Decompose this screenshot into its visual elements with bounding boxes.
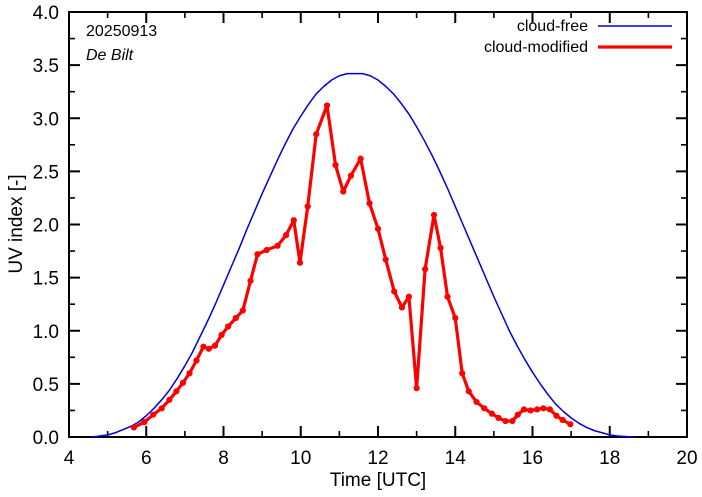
data-point	[283, 232, 289, 238]
data-point	[166, 397, 172, 403]
data-point	[495, 415, 501, 421]
data-point	[186, 370, 192, 376]
chart-svg: 4681012141618200.00.51.01.52.02.53.03.54…	[0, 0, 702, 497]
y-tick-label: 4.0	[33, 3, 59, 24]
data-point	[141, 419, 147, 425]
data-point	[502, 418, 508, 424]
data-point	[466, 388, 472, 394]
legend-label: cloud-free	[517, 18, 588, 35]
data-point	[521, 406, 527, 412]
data-point	[332, 162, 338, 168]
x-tick-label: 14	[445, 448, 467, 469]
data-point	[206, 346, 212, 352]
data-point	[180, 380, 186, 386]
data-point	[534, 406, 540, 412]
data-point	[297, 260, 303, 266]
data-point	[481, 405, 487, 411]
y-axis-title: UV index [-]	[6, 174, 27, 273]
x-tick-label: 4	[64, 448, 75, 469]
data-point	[444, 294, 450, 300]
y-tick-label: 0.0	[33, 428, 59, 449]
data-point	[473, 399, 479, 405]
y-tick-label: 3.0	[33, 109, 59, 130]
x-axis-title: Time [UTC]	[330, 470, 426, 491]
data-point	[193, 357, 199, 363]
series-cloud-modified	[131, 102, 574, 430]
x-tick-label: 16	[522, 448, 543, 469]
y-tick-label: 1.0	[33, 322, 59, 343]
data-point	[553, 413, 559, 419]
data-point	[291, 217, 297, 223]
data-point	[422, 266, 428, 272]
data-point	[452, 315, 458, 321]
data-point	[313, 131, 319, 137]
data-point	[274, 243, 280, 249]
x-tick-label: 20	[676, 448, 697, 469]
data-point	[406, 294, 412, 300]
uv-index-chart: 4681012141618200.00.51.01.52.02.53.03.54…	[0, 0, 702, 497]
data-point	[159, 405, 165, 411]
data-point	[383, 256, 389, 262]
x-tick-label: 6	[141, 448, 152, 469]
data-point	[489, 411, 495, 417]
annotation-date: 20250913	[86, 23, 157, 40]
y-tick-label: 0.5	[33, 375, 59, 396]
y-tick-label: 2.0	[33, 216, 59, 237]
data-point	[437, 245, 443, 251]
data-point	[254, 251, 260, 257]
data-point	[324, 102, 330, 108]
data-point	[399, 304, 405, 310]
data-point	[366, 200, 372, 206]
x-tick-label: 10	[290, 448, 311, 469]
series-line	[92, 74, 633, 437]
axis-tick-labels: 4681012141618200.00.51.01.52.02.53.03.54…	[33, 3, 698, 469]
data-point	[431, 212, 437, 218]
data-series	[92, 74, 633, 437]
legend-label: cloud-modified	[484, 39, 588, 56]
data-point	[358, 156, 364, 162]
y-tick-label: 3.5	[33, 56, 59, 77]
data-point	[391, 288, 397, 294]
data-point	[547, 406, 553, 412]
data-point	[515, 412, 521, 418]
data-point	[340, 188, 346, 194]
data-point	[567, 421, 573, 427]
data-point	[173, 388, 179, 394]
y-tick-label: 2.5	[33, 162, 59, 183]
y-tick-label: 1.5	[33, 269, 59, 290]
data-point	[131, 424, 137, 430]
data-point	[150, 412, 156, 418]
data-point	[527, 407, 533, 413]
data-point	[200, 344, 206, 350]
data-point	[414, 385, 420, 391]
data-point	[218, 332, 224, 338]
data-point	[348, 173, 354, 179]
data-point	[375, 226, 381, 232]
chart-legend: cloud-freecloud-modified	[484, 18, 672, 56]
annotation-station: De Bilt	[86, 47, 134, 64]
x-tick-label: 18	[599, 448, 620, 469]
series-cloud-free	[92, 74, 633, 437]
data-point	[225, 323, 231, 329]
data-point	[240, 307, 246, 313]
data-point	[509, 418, 515, 424]
data-point	[560, 417, 566, 423]
series-line	[134, 106, 570, 428]
data-point	[540, 405, 546, 411]
x-tick-label: 12	[367, 448, 388, 469]
data-point	[305, 203, 311, 209]
data-point	[459, 370, 465, 376]
data-point	[212, 343, 218, 349]
data-point	[247, 278, 253, 284]
x-tick-label: 8	[218, 448, 229, 469]
data-point	[233, 315, 239, 321]
data-point	[264, 247, 270, 253]
